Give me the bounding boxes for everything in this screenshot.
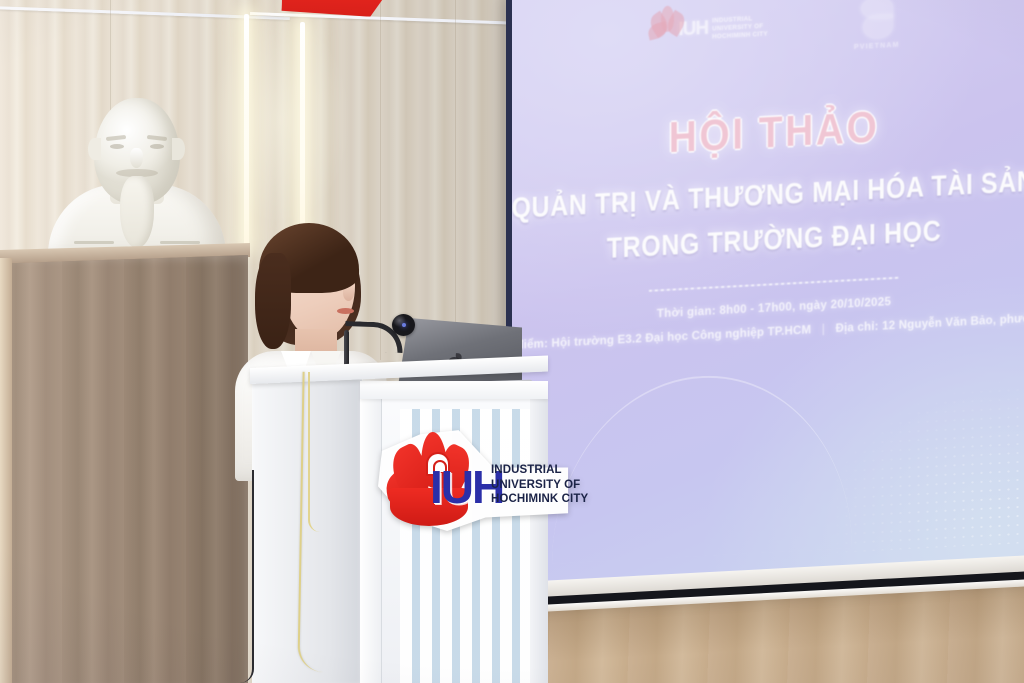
bust-pocket [74, 241, 114, 244]
lotus-icon [648, 5, 686, 47]
led-light-strip [244, 14, 249, 249]
podium-front-panel [360, 381, 548, 683]
bust-ear [88, 138, 101, 160]
iuh-emblem: IUH INDUSTRIAL UNIVERSITY OF HOCHIMINK C… [378, 428, 570, 532]
emblem-line-2: UNIVERSITY OF [491, 478, 588, 493]
photo-scene: IUH INDUSTRIAL UNIVERSITY OF HOCHIMINH C… [0, 0, 1024, 683]
led-light-strip [300, 22, 305, 240]
slide-university-logo: IUH INDUSTRIAL UNIVERSITY OF HOCHIMINH C… [648, 1, 768, 47]
bust-nose [130, 148, 143, 168]
slide-divider [649, 277, 899, 292]
slide-logo-line-3: HOCHIMINH CITY [712, 31, 768, 42]
podium-left-edge [360, 381, 382, 683]
bust-eye [110, 144, 124, 149]
slide-title-line-1: QUẢN TRỊ VÀ THƯƠNG MẠI HÓA TÀI SẢN TRÍ T [512, 161, 1024, 226]
microphone-indicator-light [402, 323, 406, 327]
wooden-pedestal [0, 255, 248, 683]
bust-eye [150, 144, 164, 149]
slide-heading: HỘI THẢO [669, 103, 880, 163]
speaker-hair-side [255, 253, 291, 349]
slide-time-text: Thời gian: 8h00 - 17h00, ngày 20/10/2025 [657, 296, 891, 320]
projection-screen: IUH INDUSTRIAL UNIVERSITY OF HOCHIMINH C… [512, 0, 1024, 590]
ho-chi-minh-bust [48, 92, 226, 262]
slide-text-separator: | [822, 324, 825, 336]
bust-ear [172, 138, 185, 160]
speaker-lips [337, 308, 354, 314]
yellow-cable [308, 372, 320, 532]
slide-title-line-2: TRONG TRƯỜNG ĐẠI HỌC [607, 215, 942, 266]
partner-s-mark-icon [857, 0, 897, 42]
podium-top-lip [360, 381, 548, 399]
slide-partner-logo: PVIETNAM [854, 0, 900, 51]
slide-address-text: Địa chỉ: 12 Nguyễn Văn Bảo, phường Hạnh … [836, 309, 1024, 335]
black-cable [240, 470, 254, 683]
emblem-text-block: INDUSTRIAL UNIVERSITY OF HOCHIMINK CITY [491, 463, 588, 507]
slide-place-text: Địa điểm: Hội trường E3.2 Đại học Công n… [512, 309, 1024, 353]
slide-logo-text: INDUSTRIAL UNIVERSITY OF HOCHIMINH CITY [712, 14, 768, 41]
bust-pocket [160, 241, 200, 244]
partner-logo-text: PVIETNAM [854, 42, 900, 51]
bust-beard [120, 176, 154, 248]
slide-venue-text: Địa điểm: Hội trường E3.2 Đại học Công n… [512, 324, 811, 353]
emblem-line-1: INDUSTRIAL [491, 463, 588, 478]
pedestal-left-edge [0, 258, 12, 683]
slide-logo-row: IUH INDUSTRIAL UNIVERSITY OF HOCHIMINH C… [526, 0, 1022, 68]
emblem-line-3: HOCHIMINK CITY [491, 492, 588, 507]
